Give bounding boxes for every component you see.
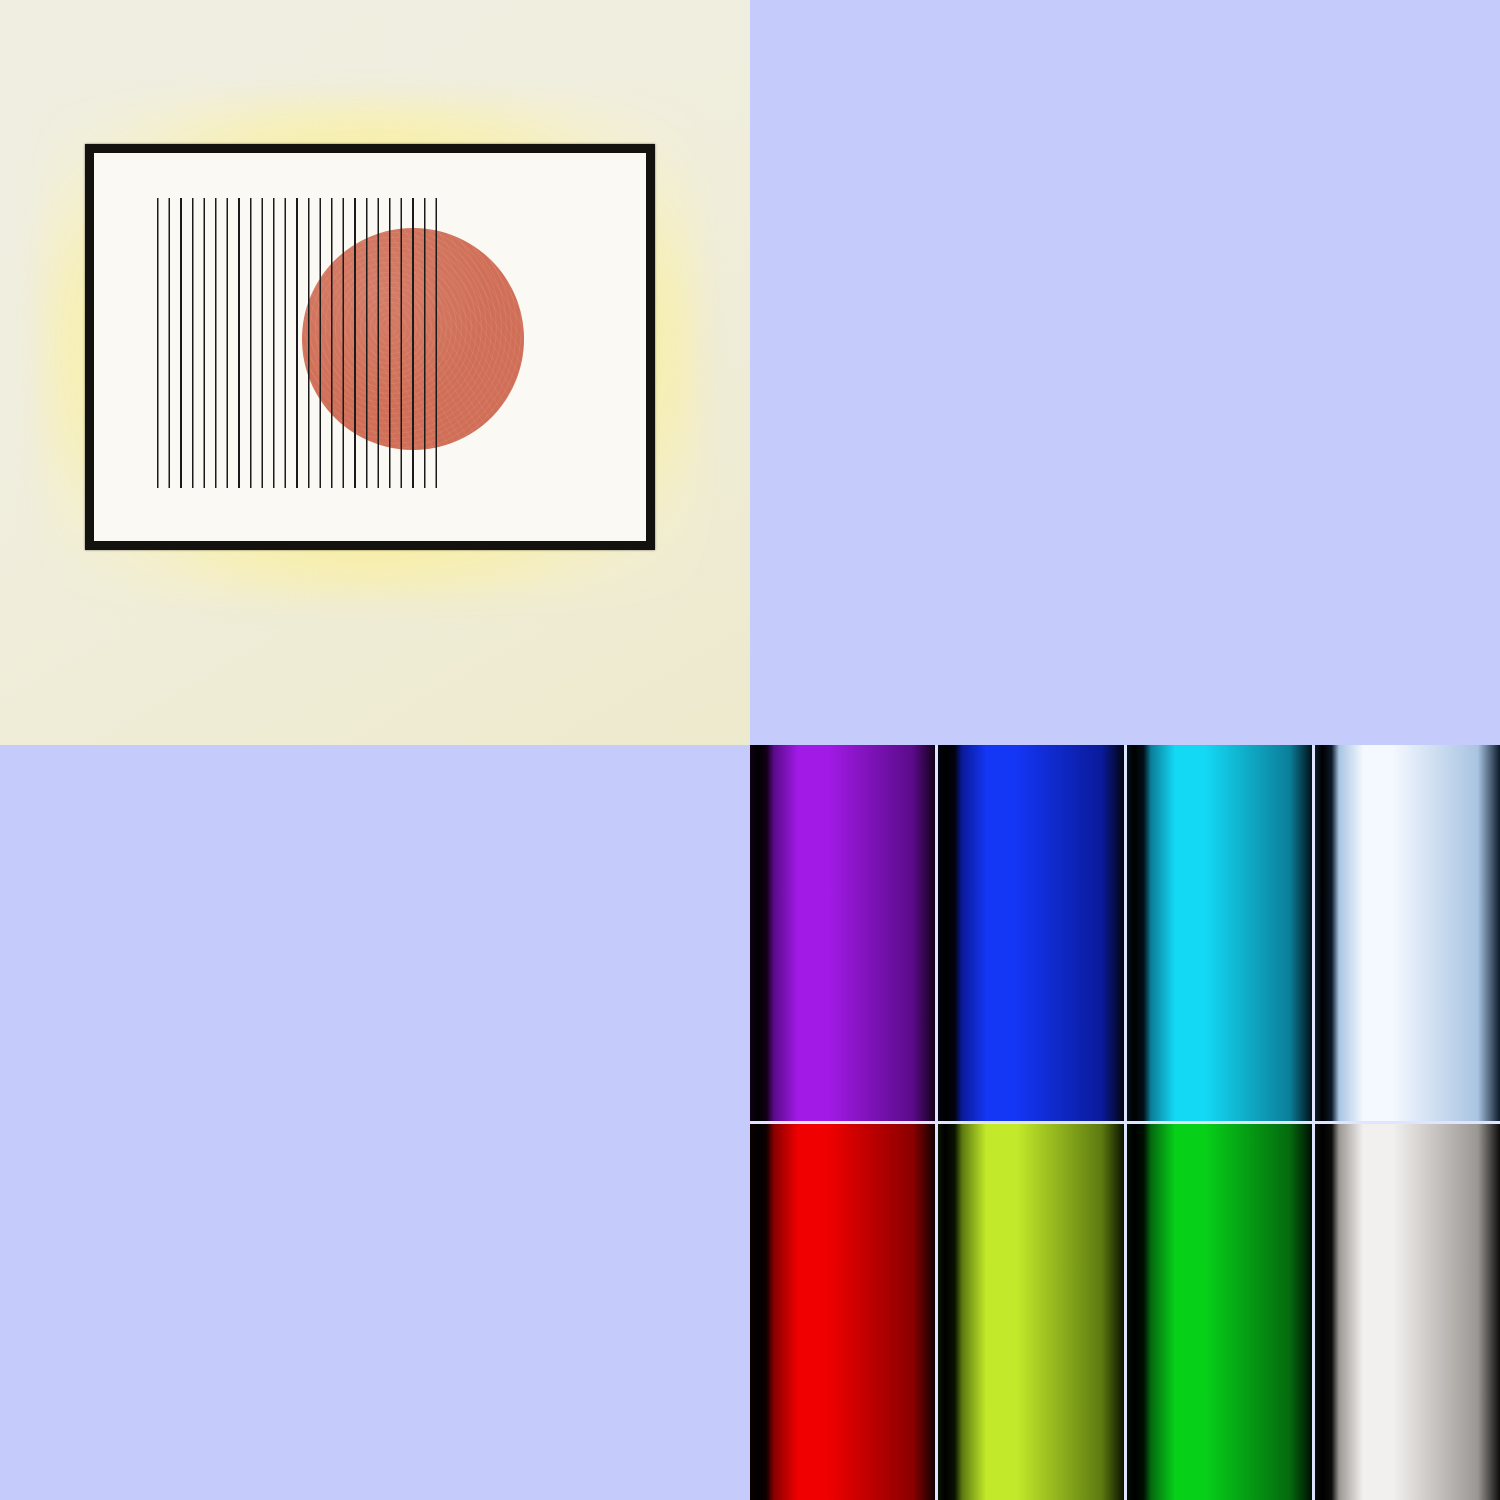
rgb-swatch-gradient <box>1315 745 1500 1121</box>
rgb-swatch-gradient <box>750 745 935 1121</box>
panel-framed-artwork <box>0 0 750 745</box>
artwork-canvas <box>94 153 646 541</box>
rgb-swatch-row <box>750 1124 1500 1500</box>
rgb-swatch-gradient <box>750 1124 935 1500</box>
panel-atmospheric: ATMOSPHERIC Dimmable RGB backlighting fo… <box>0 745 750 1500</box>
product-feature-collage: WOW EFFECT Front with design surface <box>0 0 1500 1500</box>
rgb-swatch-gradient <box>1127 1124 1312 1500</box>
rgb-swatch-row <box>750 745 1500 1124</box>
picture-frame <box>85 144 655 550</box>
rgb-swatch-green <box>1127 1124 1315 1500</box>
artwork-vertical-stripes <box>157 198 447 488</box>
panel-wow-effect: WOW EFFECT Front with design surface <box>750 0 1500 745</box>
rgb-swatch-warm-white <box>1315 1124 1500 1500</box>
rgb-swatch-lime-green <box>938 1124 1126 1500</box>
rgb-swatch-deep-blue <box>938 745 1126 1121</box>
rgb-swatch-gradient <box>1127 745 1312 1121</box>
rgb-swatch-cool-white-blue <box>1315 745 1500 1121</box>
rgb-swatch-red <box>750 1124 938 1500</box>
rgb-swatch-gradient <box>938 745 1123 1121</box>
rgb-swatch-purple-violet <box>750 745 938 1121</box>
rgb-swatch-cyan <box>1127 745 1315 1121</box>
rgb-swatch-gradient <box>938 1124 1123 1500</box>
rgb-swatch-gradient <box>1315 1124 1500 1500</box>
panel-rgb-swatches <box>750 745 1500 1500</box>
